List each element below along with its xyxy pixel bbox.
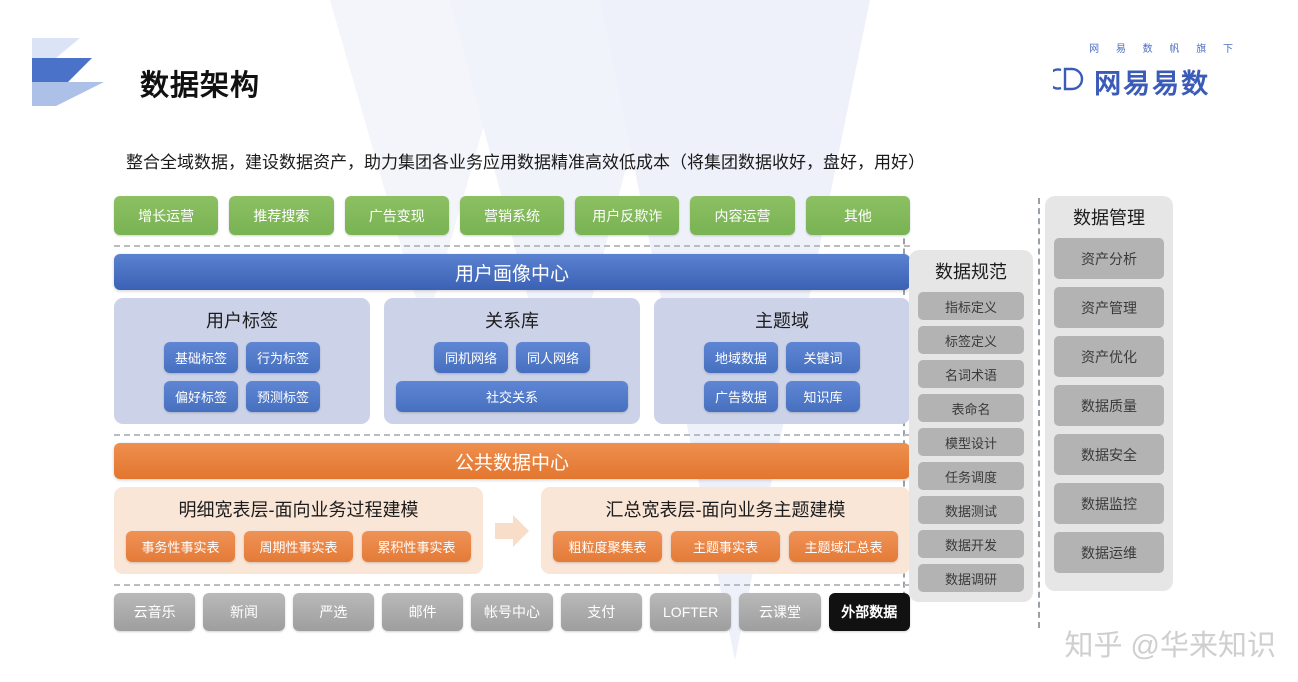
triple-chevron-logo-icon: [22, 36, 104, 108]
fact-table-label: 事务性事实表: [141, 537, 219, 556]
data-management-column: 数据管理 资产分析 资产管理 资产优化 数据质量 数据安全 数据监控 数据运维: [1045, 196, 1173, 591]
data-spec-item[interactable]: 模型设计: [918, 428, 1024, 456]
group-title: 关系库: [396, 307, 628, 333]
group-title: 用户标签: [126, 307, 358, 333]
data-management-item[interactable]: 数据监控: [1054, 483, 1164, 524]
data-spec-item-label: 数据测试: [945, 501, 997, 520]
app-chip[interactable]: 增长运营: [114, 196, 218, 235]
page-header: 数据架构 网 易 数 帆 旗 下 网易易数: [0, 0, 1298, 122]
summary-table-chip[interactable]: 主题事实表: [671, 531, 780, 562]
data-spec-item-label: 数据调研: [945, 569, 997, 588]
source-label: 外部数据: [841, 602, 897, 622]
fact-table-chip[interactable]: 累积性事实表: [362, 531, 471, 562]
app-chip-label: 广告变现: [369, 206, 425, 226]
tag-label: 广告数据: [715, 387, 767, 406]
source-chip[interactable]: 云课堂: [739, 593, 820, 631]
data-spec-item[interactable]: 名词术语: [918, 360, 1024, 388]
watermark: 知乎 @华来知识: [1065, 622, 1277, 664]
source-label: 新闻: [230, 602, 258, 622]
tag-label: 预测标签: [257, 387, 309, 406]
group-user-tags: 用户标签 基础标签 行为标签 偏好标签 预测标签: [114, 298, 370, 424]
tag-label: 关键词: [803, 348, 842, 367]
right-arrow-icon: [491, 487, 533, 574]
data-management-item[interactable]: 数据质量: [1054, 385, 1164, 426]
data-spec-item-label: 数据开发: [945, 535, 997, 554]
group-theme-domain: 主题域 地域数据 关键词 广告数据 知识库: [654, 298, 910, 424]
data-spec-item-label: 名词术语: [945, 365, 997, 384]
data-management-title: 数据管理: [1054, 204, 1164, 230]
summary-table-label: 主题事实表: [693, 537, 758, 556]
yishu-circle-logo-icon: [1053, 63, 1085, 100]
group-title: 主题域: [666, 307, 898, 333]
main-column: 增长运营 推荐搜索 广告变现 营销系统 用户反欺诈 内容运营 其他 用户画像中心…: [114, 196, 910, 631]
tag-chip[interactable]: 关键词: [786, 342, 860, 373]
data-management-item-label: 数据安全: [1081, 445, 1137, 465]
detail-wide-table-layer: 明细宽表层-面向业务过程建模 事务性事实表 周期性事实表 累积性事实表: [114, 487, 483, 574]
app-chip[interactable]: 广告变现: [345, 196, 449, 235]
source-label: 云课堂: [759, 602, 801, 622]
data-spec-item[interactable]: 数据调研: [918, 564, 1024, 592]
data-spec-column: 数据规范 指标定义 标签定义 名词术语 表命名 模型设计 任务调度 数据测试 数…: [909, 250, 1033, 602]
app-chip-label: 营销系统: [484, 206, 540, 226]
tag-chip[interactable]: 知识库: [786, 381, 860, 412]
vertical-divider-right: [1038, 198, 1040, 628]
page-title: 数据架构: [140, 62, 260, 104]
tag-label: 地域数据: [715, 348, 767, 367]
fact-table-chip[interactable]: 事务性事实表: [126, 531, 235, 562]
user-portrait-center-banner: 用户画像中心: [114, 254, 910, 290]
source-chip[interactable]: LOFTER: [650, 593, 731, 631]
app-chip[interactable]: 营销系统: [460, 196, 564, 235]
brand-lockup: 网 易 数 帆 旗 下 网易易数: [1053, 40, 1240, 101]
app-chip-label: 用户反欺诈: [592, 206, 662, 226]
source-chip[interactable]: 新闻: [203, 593, 284, 631]
data-spec-item-label: 标签定义: [945, 331, 997, 350]
source-chip[interactable]: 邮件: [382, 593, 463, 631]
architecture-diagram: 增长运营 推荐搜索 广告变现 营销系统 用户反欺诈 内容运营 其他 用户画像中心…: [0, 196, 1298, 656]
portrait-groups: 用户标签 基础标签 行为标签 偏好标签 预测标签 关系库 同机网络 同人网络 社…: [114, 298, 910, 424]
source-chip[interactable]: 严选: [293, 593, 374, 631]
summary-table-chip[interactable]: 主题域汇总表: [789, 531, 898, 562]
divider-apps: [114, 245, 910, 247]
tag-label: 基础标签: [175, 348, 227, 367]
data-management-item-label: 资产管理: [1081, 298, 1137, 318]
tag-chip[interactable]: 基础标签: [164, 342, 238, 373]
tag-chip[interactable]: 预测标签: [246, 381, 320, 412]
data-management-item-label: 资产分析: [1081, 249, 1137, 269]
data-management-panel: 数据管理 资产分析 资产管理 资产优化 数据质量 数据安全 数据监控 数据运维: [1045, 196, 1173, 591]
summary-wide-table-layer: 汇总宽表层-面向业务主题建模 粗粒度聚集表 主题事实表 主题域汇总表: [541, 487, 910, 574]
tag-label: 社交关系: [486, 387, 538, 406]
source-label: 帐号中心: [484, 602, 540, 622]
app-chip[interactable]: 内容运营: [690, 196, 794, 235]
app-chip-label: 推荐搜索: [253, 206, 309, 226]
app-chip[interactable]: 其他: [806, 196, 910, 235]
tag-chip[interactable]: 同机网络: [434, 342, 508, 373]
source-chip[interactable]: 支付: [561, 593, 642, 631]
layer-title: 明细宽表层-面向业务过程建模: [126, 496, 471, 522]
data-management-item-label: 资产优化: [1081, 347, 1137, 367]
app-chip-label: 内容运营: [715, 206, 771, 226]
public-data-center-banner: 公共数据中心: [114, 443, 910, 479]
data-spec-item[interactable]: 指标定义: [918, 292, 1024, 320]
tag-chip[interactable]: 同人网络: [516, 342, 590, 373]
divider-portrait: [114, 434, 910, 436]
data-spec-item-label: 表命名: [951, 399, 990, 418]
app-chip[interactable]: 推荐搜索: [229, 196, 333, 235]
data-management-item-label: 数据质量: [1081, 396, 1137, 416]
data-spec-item[interactable]: 数据测试: [918, 496, 1024, 524]
tag-label: 行为标签: [257, 348, 309, 367]
tag-label: 知识库: [803, 387, 842, 406]
fact-table-label: 周期性事实表: [259, 537, 337, 556]
data-spec-item[interactable]: 表命名: [918, 394, 1024, 422]
tag-chip[interactable]: 地域数据: [704, 342, 778, 373]
data-management-item-label: 数据运维: [1081, 543, 1137, 563]
data-management-item[interactable]: 资产优化: [1054, 336, 1164, 377]
brand-subtitle: 网 易 数 帆 旗 下: [1089, 40, 1240, 55]
data-management-item-label: 数据监控: [1081, 494, 1137, 514]
data-management-item[interactable]: 数据安全: [1054, 434, 1164, 475]
source-chip-external[interactable]: 外部数据: [829, 593, 910, 631]
source-label: 云音乐: [134, 602, 176, 622]
page-subtitle: 整合全域数据，建设数据资产，助力集团各业务应用数据精准高效低成本（将集团数据收好…: [126, 148, 925, 173]
data-spec-title: 数据规范: [918, 258, 1024, 284]
source-systems-row: 云音乐 新闻 严选 邮件 帐号中心 支付 LOFTER 云课堂 外部数据: [114, 593, 910, 631]
group-relation-library: 关系库 同机网络 同人网络 社交关系: [384, 298, 640, 424]
fact-table-chip[interactable]: 周期性事实表: [244, 531, 353, 562]
data-management-item[interactable]: 资产分析: [1054, 238, 1164, 279]
app-chip[interactable]: 用户反欺诈: [575, 196, 679, 235]
data-spec-item[interactable]: 标签定义: [918, 326, 1024, 354]
fact-table-label: 累积性事实表: [377, 537, 455, 556]
layer-title: 汇总宽表层-面向业务主题建模: [553, 496, 898, 522]
tag-label: 同机网络: [445, 348, 497, 367]
banner-label: 公共数据中心: [455, 448, 569, 475]
tag-chip[interactable]: 行为标签: [246, 342, 320, 373]
summary-table-chip[interactable]: 粗粒度聚集表: [553, 531, 662, 562]
data-spec-item[interactable]: 任务调度: [918, 462, 1024, 490]
tag-chip[interactable]: 广告数据: [704, 381, 778, 412]
data-spec-item-label: 模型设计: [945, 433, 997, 452]
data-management-item[interactable]: 资产管理: [1054, 287, 1164, 328]
data-spec-item[interactable]: 数据开发: [918, 530, 1024, 558]
source-label: LOFTER: [663, 604, 718, 620]
data-spec-panel: 数据规范 指标定义 标签定义 名词术语 表命名 模型设计 任务调度 数据测试 数…: [909, 250, 1033, 602]
source-label: 严选: [319, 602, 347, 622]
brand-name: 网易易数: [1094, 62, 1210, 101]
summary-table-label: 主题域汇总表: [804, 537, 882, 556]
divider-sources: [114, 584, 910, 586]
application-row: 增长运营 推荐搜索 广告变现 营销系统 用户反欺诈 内容运营 其他: [114, 196, 910, 235]
tag-chip[interactable]: 偏好标签: [164, 381, 238, 412]
data-spec-item-label: 指标定义: [945, 297, 997, 316]
app-chip-label: 增长运营: [138, 206, 194, 226]
app-chip-label: 其他: [844, 206, 872, 226]
source-label: 支付: [587, 602, 615, 622]
source-chip[interactable]: 帐号中心: [471, 593, 552, 631]
public-data-layers: 明细宽表层-面向业务过程建模 事务性事实表 周期性事实表 累积性事实表 汇总宽表…: [114, 487, 910, 574]
data-spec-item-label: 任务调度: [945, 467, 997, 486]
source-label: 邮件: [409, 602, 437, 622]
tag-label: 同人网络: [527, 348, 579, 367]
banner-label: 用户画像中心: [455, 259, 569, 286]
data-management-item[interactable]: 数据运维: [1054, 532, 1164, 573]
summary-table-label: 粗粒度聚集表: [568, 537, 646, 556]
tag-label: 偏好标签: [175, 387, 227, 406]
tag-chip[interactable]: 社交关系: [396, 381, 628, 412]
source-chip[interactable]: 云音乐: [114, 593, 195, 631]
